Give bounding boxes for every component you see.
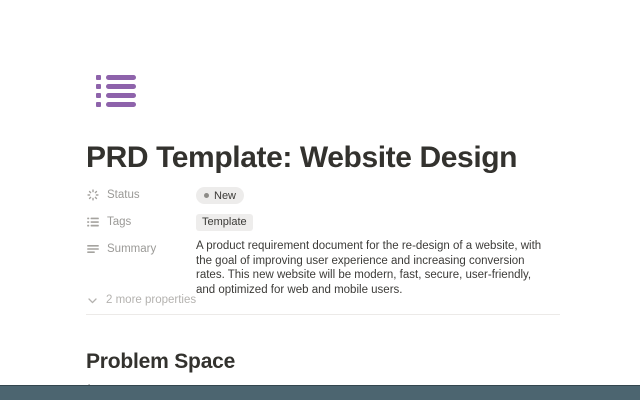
property-row-tags: Tags Template xyxy=(86,211,564,237)
page-icon-row xyxy=(96,102,136,107)
property-label-text: Tags xyxy=(107,216,131,228)
property-row-status: Status New xyxy=(86,184,564,210)
chevron-down-icon xyxy=(86,294,99,307)
tag-chip[interactable]: Template xyxy=(196,214,253,231)
property-label-text: Status xyxy=(107,189,140,201)
properties-panel: Status New xyxy=(86,184,564,298)
page-icon-row xyxy=(96,84,136,89)
property-value-tags[interactable]: Template xyxy=(196,211,564,231)
property-value-summary[interactable]: A product requirement document for the r… xyxy=(196,238,564,297)
text-align-icon xyxy=(86,242,100,256)
summary-text[interactable]: A product requirement document for the r… xyxy=(196,239,552,297)
status-badge-label: New xyxy=(214,190,236,202)
bottom-bar xyxy=(0,386,640,400)
page-title[interactable]: PRD Template: Website Design xyxy=(86,139,517,177)
properties-divider xyxy=(86,314,560,315)
property-label-summary[interactable]: Summary xyxy=(86,238,196,260)
page-icon-bar xyxy=(106,84,136,89)
section-heading-problem-space[interactable]: Problem Space xyxy=(86,348,235,376)
page-icon-row xyxy=(96,75,136,80)
status-dot-icon xyxy=(204,193,209,198)
tag-chip-label: Template xyxy=(202,216,247,228)
loading-spinner-icon xyxy=(86,188,100,202)
page-icon-row xyxy=(96,93,136,98)
document-page: PRD Template: Website Design xyxy=(0,0,640,400)
status-badge[interactable]: New xyxy=(196,187,244,204)
property-label-status[interactable]: Status xyxy=(86,184,196,206)
page-icon-bullet xyxy=(96,93,101,98)
page-icon-bar xyxy=(106,75,136,80)
property-value-status[interactable]: New xyxy=(196,184,564,204)
page-icon-bar xyxy=(106,102,136,107)
page-icon-bar xyxy=(106,93,136,98)
more-properties-toggle[interactable]: 2 more properties xyxy=(86,292,196,308)
page-icon-bullet xyxy=(96,102,101,107)
page-icon[interactable] xyxy=(96,75,136,107)
property-row-summary: Summary A product requirement document f… xyxy=(86,238,564,297)
page-icon-bullet xyxy=(96,75,101,80)
page-icon-bullet xyxy=(96,84,101,89)
property-label-text: Summary xyxy=(107,243,156,255)
property-label-tags[interactable]: Tags xyxy=(86,211,196,233)
list-icon xyxy=(86,215,100,229)
more-properties-label: 2 more properties xyxy=(106,294,196,306)
